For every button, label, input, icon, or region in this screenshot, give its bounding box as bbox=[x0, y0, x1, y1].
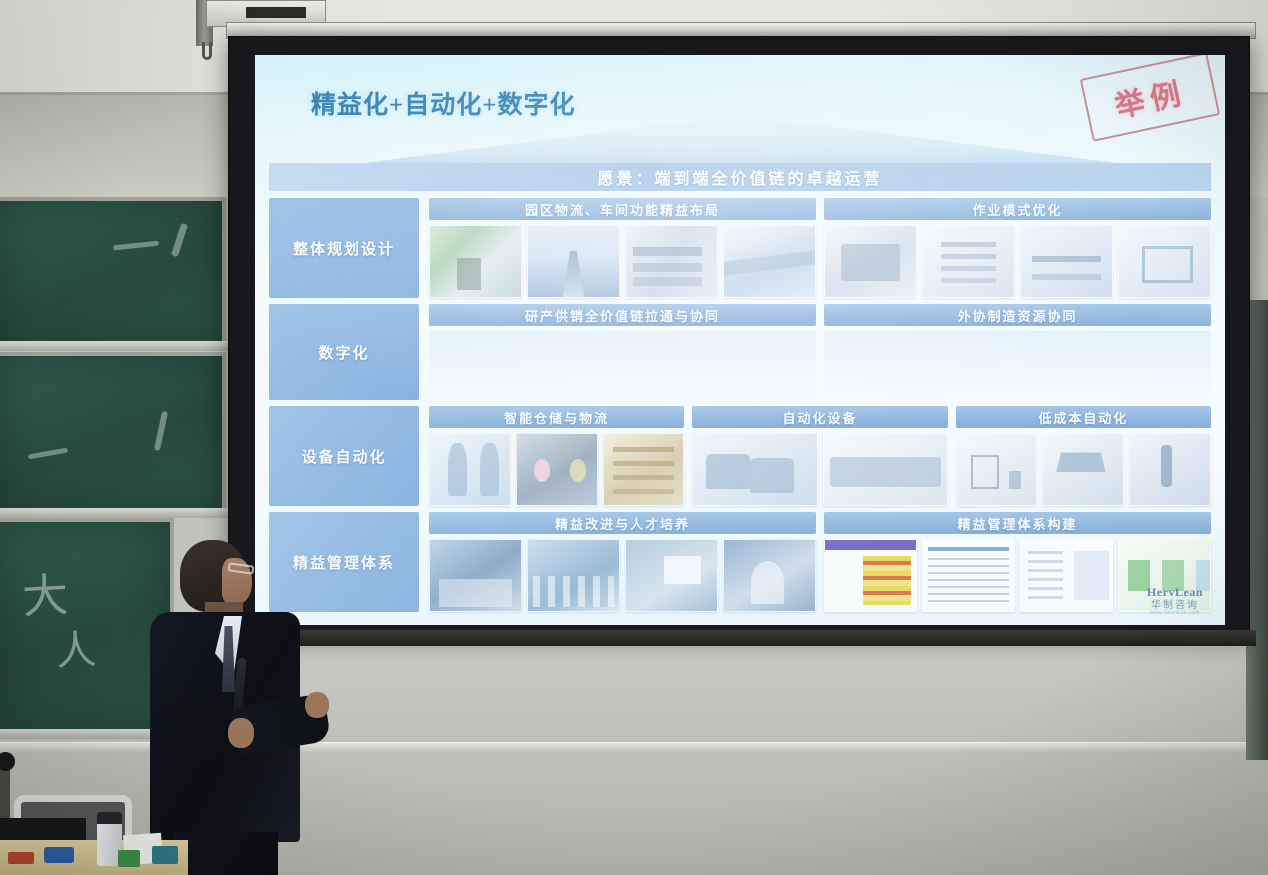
row-label-digital: 数字化 bbox=[269, 304, 419, 400]
group-heading-park-logistics: 园区物流、车间功能精益布局 bbox=[429, 198, 816, 220]
projection-screen: 精益化+自动化+数字化 愿景：端到端全价值链的卓越运营 整体规划设计 园区物流、… bbox=[228, 36, 1250, 634]
framework-row-equipment: 设备自动化 智能仓储与物流 自动化设备 bbox=[269, 406, 1211, 506]
thumb-strip-low-cost-automation bbox=[956, 433, 1211, 506]
desk-item-red bbox=[8, 852, 34, 864]
framework-row-planning: 整体规划设计 园区物流、车间功能精益布局 作业模 bbox=[269, 198, 1211, 298]
thumb-strip-park-logistics bbox=[429, 225, 816, 298]
logo-url-text: www.hervlean.com bbox=[1147, 611, 1203, 617]
thumb-site-layout-plan bbox=[429, 225, 522, 298]
group-park-logistics: 园区物流、车间功能精益布局 bbox=[429, 198, 816, 298]
company-logo: HervLean 华制咨询 www.hervlean.com bbox=[1147, 586, 1203, 617]
group-heading-lean-system-build: 精益管理体系构建 bbox=[824, 512, 1211, 534]
thumb-strip-smart-warehouse bbox=[429, 433, 684, 506]
thumb-rack-storage bbox=[922, 225, 1015, 298]
row-body-planning: 园区物流、车间功能精益布局 作业模式优化 bbox=[429, 198, 1211, 298]
thumb-cnc-machine bbox=[692, 433, 817, 506]
framework-row-digital: 数字化 研产供销全价值链拉通与协同 外协制造资源协同 bbox=[269, 304, 1211, 400]
group-lean-training: 精益改进与人才培养 bbox=[429, 512, 816, 612]
thumb-microscope-station bbox=[1129, 433, 1211, 506]
group-heading-outsourcing: 外协制造资源协同 bbox=[824, 304, 1211, 326]
projector-label-plate bbox=[246, 7, 306, 18]
desk-item-blue bbox=[44, 847, 74, 863]
thumb-agv-vehicle bbox=[516, 433, 598, 506]
thumb-workshop-session bbox=[625, 539, 718, 612]
slide-title: 精益化+自动化+数字化 bbox=[311, 85, 576, 121]
framework-grid: 整体规划设计 园区物流、车间功能精益布局 作业模 bbox=[269, 198, 1211, 608]
presenter-left-hand bbox=[228, 718, 254, 748]
chalk-tray-2 bbox=[0, 508, 230, 518]
desk-item-green bbox=[118, 850, 140, 867]
screen-hook bbox=[202, 42, 212, 60]
projection-screen-bottom-bar bbox=[226, 630, 1256, 646]
chalk-mark-ren: 人 bbox=[55, 617, 98, 677]
thumb-strip-value-chain bbox=[429, 331, 816, 400]
logo-english-text: HervLean bbox=[1147, 586, 1203, 600]
example-stamp: 举例 bbox=[1080, 55, 1220, 142]
desk-item-teal bbox=[152, 846, 178, 864]
thumb-assembly-desk bbox=[1042, 433, 1124, 506]
chalkboard-lower-left: 大 人 bbox=[0, 518, 174, 733]
vision-banner-text: 愿景：端到端全价值链的卓越运营 bbox=[597, 165, 882, 189]
thumb-gantt-chart-doc bbox=[824, 539, 917, 612]
thumb-classroom-group bbox=[527, 539, 620, 612]
presenter-right-hand bbox=[305, 692, 329, 718]
presenter-legs bbox=[174, 832, 278, 875]
water-bottle-cap bbox=[97, 812, 122, 824]
thumb-spreadsheet-doc bbox=[922, 539, 1015, 612]
thumb-aerial-plant-view bbox=[625, 225, 718, 298]
thumb-strip-outsourcing bbox=[824, 331, 1211, 400]
chalkboard-upper-left bbox=[0, 197, 226, 345]
thumb-pallet-shelf bbox=[603, 433, 685, 506]
chalk-mark-da: 大 bbox=[20, 559, 69, 627]
presenter-person bbox=[150, 540, 335, 875]
group-heading-low-cost-automation: 低成本自动化 bbox=[956, 406, 1211, 428]
group-heading-lean-training: 精益改进与人才培养 bbox=[429, 512, 816, 534]
group-auto-equipment: 自动化设备 bbox=[692, 406, 947, 506]
chalk-tray-1 bbox=[0, 341, 230, 351]
row-label-planning: 整体规划设计 bbox=[269, 198, 419, 298]
group-heading-auto-equipment: 自动化设备 bbox=[692, 406, 947, 428]
thumb-low-cost-jig bbox=[956, 433, 1038, 506]
row-body-digital: 研产供销全价值链拉通与协同 外协制造资源协同 bbox=[429, 304, 1211, 400]
classroom-scene: 大 人 精益化+自动化+数字化 愿景：端到端全价值链的卓越运营 整体规划设计 园… bbox=[0, 0, 1268, 875]
group-smart-warehouse: 智能仓储与物流 bbox=[429, 406, 684, 506]
thumb-strip-lean-training bbox=[429, 539, 816, 612]
framework-row-lean-system: 精益管理体系 精益改进与人才培养 精益管理体系构 bbox=[269, 512, 1211, 612]
thumb-work-bench bbox=[1020, 225, 1113, 298]
thumb-factory-road-view bbox=[527, 225, 620, 298]
thumb-strip-auto-equipment bbox=[692, 433, 947, 506]
group-heading-value-chain: 研产供销全价值链拉通与协同 bbox=[429, 304, 816, 326]
chalkboard-middle-left bbox=[0, 352, 226, 512]
row-body-equipment: 智能仓储与物流 自动化设备 bbox=[429, 406, 1211, 506]
group-operation-mode: 作业模式优化 bbox=[824, 198, 1211, 298]
group-value-chain: 研产供销全价值链拉通与协同 bbox=[429, 304, 816, 400]
group-outsourcing: 外协制造资源协同 bbox=[824, 304, 1211, 400]
group-heading-operation-mode: 作业模式优化 bbox=[824, 198, 1211, 220]
thumb-silo-storage bbox=[429, 433, 511, 506]
thumb-training-room-1 bbox=[429, 539, 522, 612]
group-low-cost-automation: 低成本自动化 bbox=[956, 406, 1211, 506]
thumb-report-doc bbox=[1020, 539, 1113, 612]
row-label-equipment: 设备自动化 bbox=[269, 406, 419, 506]
thumb-machine-cell bbox=[824, 225, 917, 298]
example-stamp-text: 举例 bbox=[1110, 68, 1190, 126]
thumb-strip-operation-mode bbox=[824, 225, 1211, 298]
row-body-lean-system: 精益改进与人才培养 精益管理体系构建 bbox=[429, 512, 1211, 612]
thumb-material-cart bbox=[1118, 225, 1211, 298]
thumb-production-line bbox=[823, 433, 948, 506]
group-heading-smart-warehouse: 智能仓储与物流 bbox=[429, 406, 684, 428]
vision-banner: 愿景：端到端全价值链的卓越运营 bbox=[269, 163, 1211, 191]
presentation-slide: 精益化+自动化+数字化 愿景：端到端全价值链的卓越运营 整体规划设计 园区物流、… bbox=[255, 55, 1225, 625]
thumb-plant-hall-panorama bbox=[723, 225, 816, 298]
thumb-team-activity bbox=[723, 539, 816, 612]
